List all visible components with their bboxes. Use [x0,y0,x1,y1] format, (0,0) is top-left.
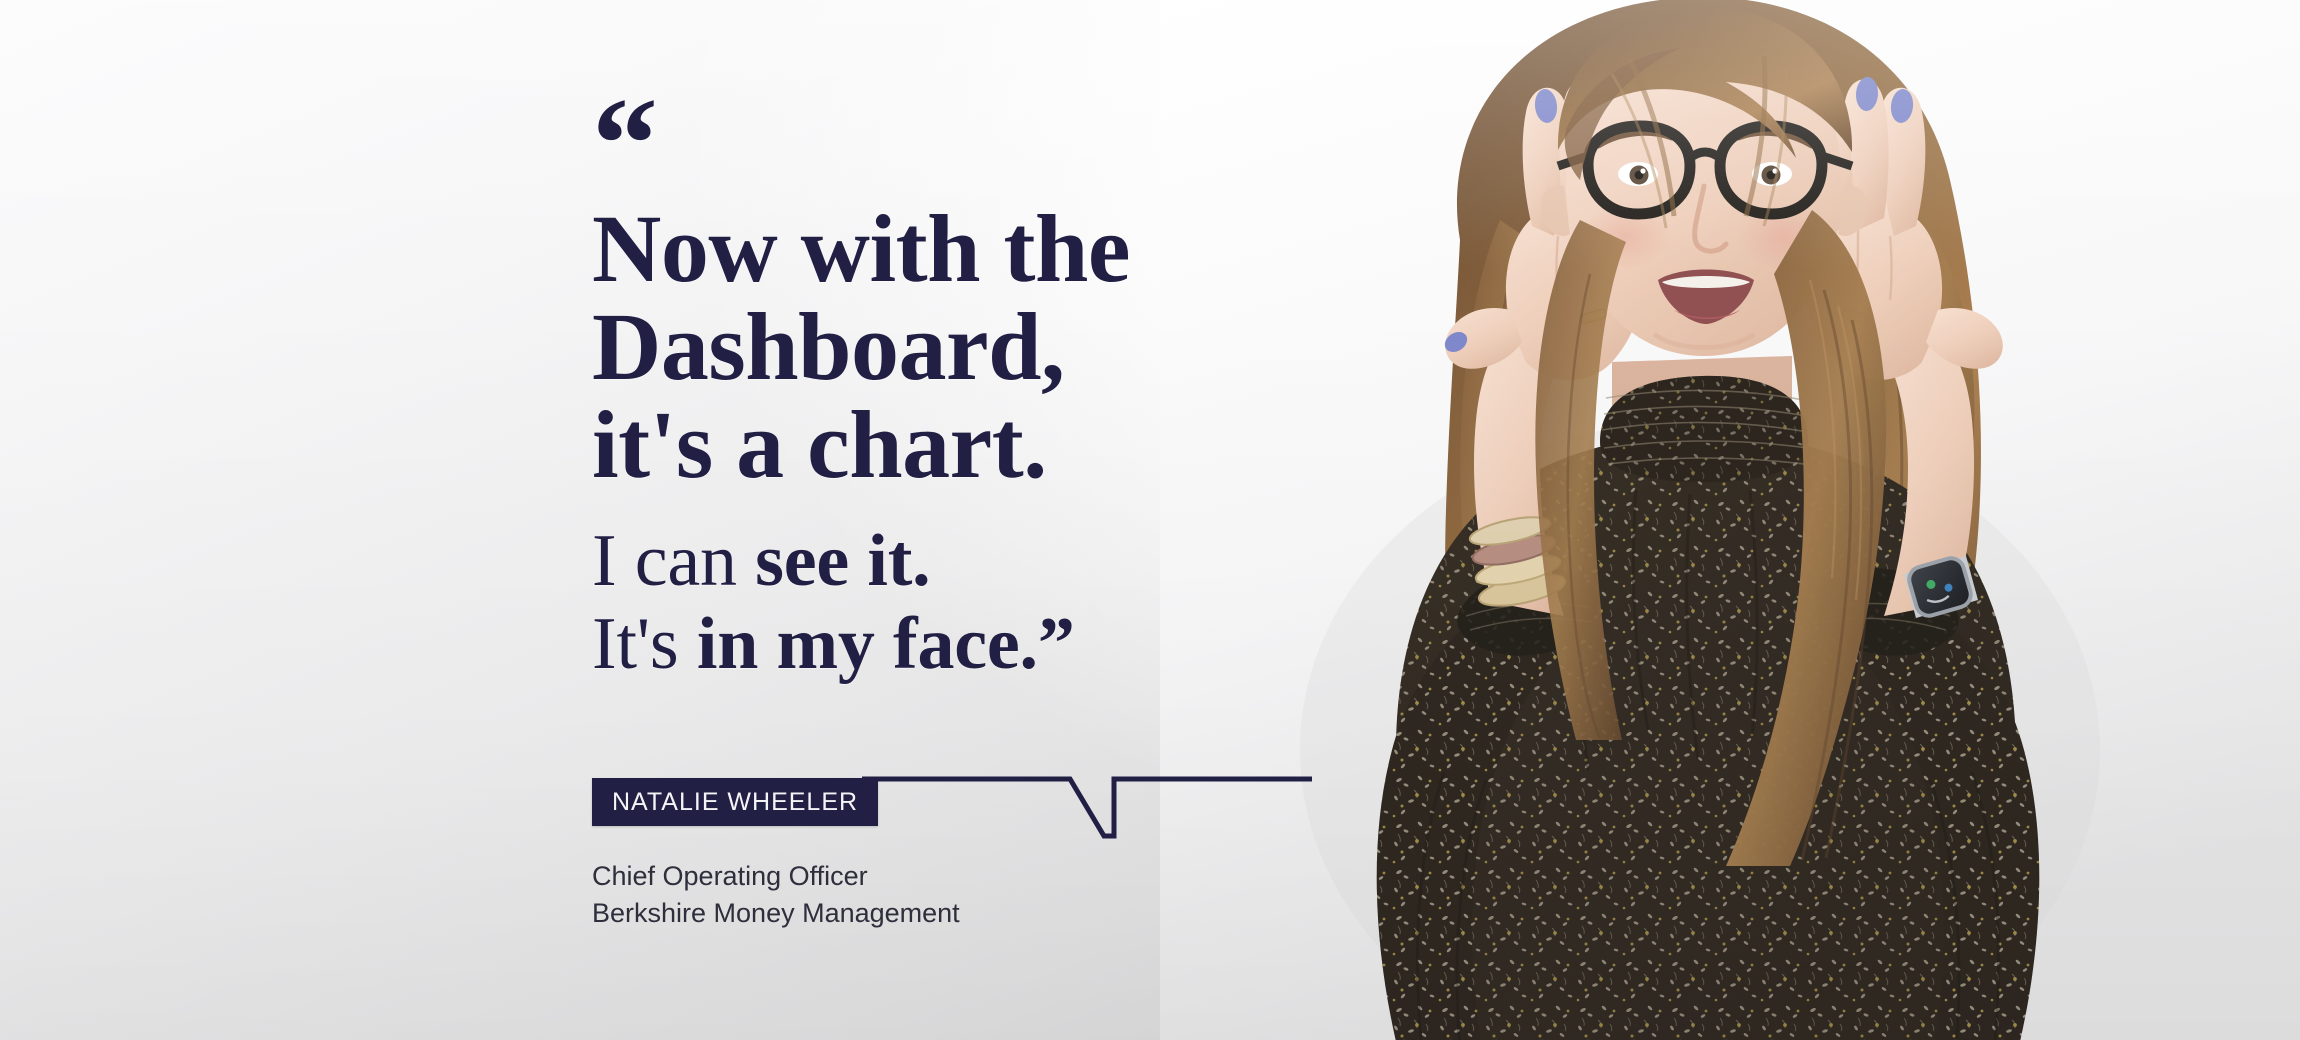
speaker-name: NATALIE WHEELER [612,788,858,817]
opening-quote-mark: “ [592,108,1372,182]
quote-line-1: Now with the [592,200,1372,298]
quote-line-4-regular: I can [592,520,755,602]
quote-line-2: Dashboard, [592,298,1372,396]
quote-line-3: it's a chart. [592,396,1372,494]
speaker-title: Chief Operating Officer [592,858,960,895]
quote-line-4-emphasis: see it. [755,520,930,602]
quote-line-5-emphasis: in my face.” [697,603,1075,685]
quote-block: “ Now with the Dashboard, it's a chart. … [592,108,1372,687]
attribution-details: Chief Operating Officer Berkshire Money … [592,858,960,931]
quote-line-5-regular: It's [592,603,697,685]
quote-text: Now with the Dashboard, it's a chart. I … [592,200,1372,687]
testimonial-banner: “ Now with the Dashboard, it's a chart. … [0,0,2300,1040]
speaker-name-badge: NATALIE WHEELER [592,778,878,826]
quote-line-5: It's in my face.” [592,603,1372,687]
speaker-company: Berkshire Money Management [592,895,960,932]
quote-line-4: I can see it. [592,520,1372,604]
speech-bubble-tail-icon [862,774,1382,854]
